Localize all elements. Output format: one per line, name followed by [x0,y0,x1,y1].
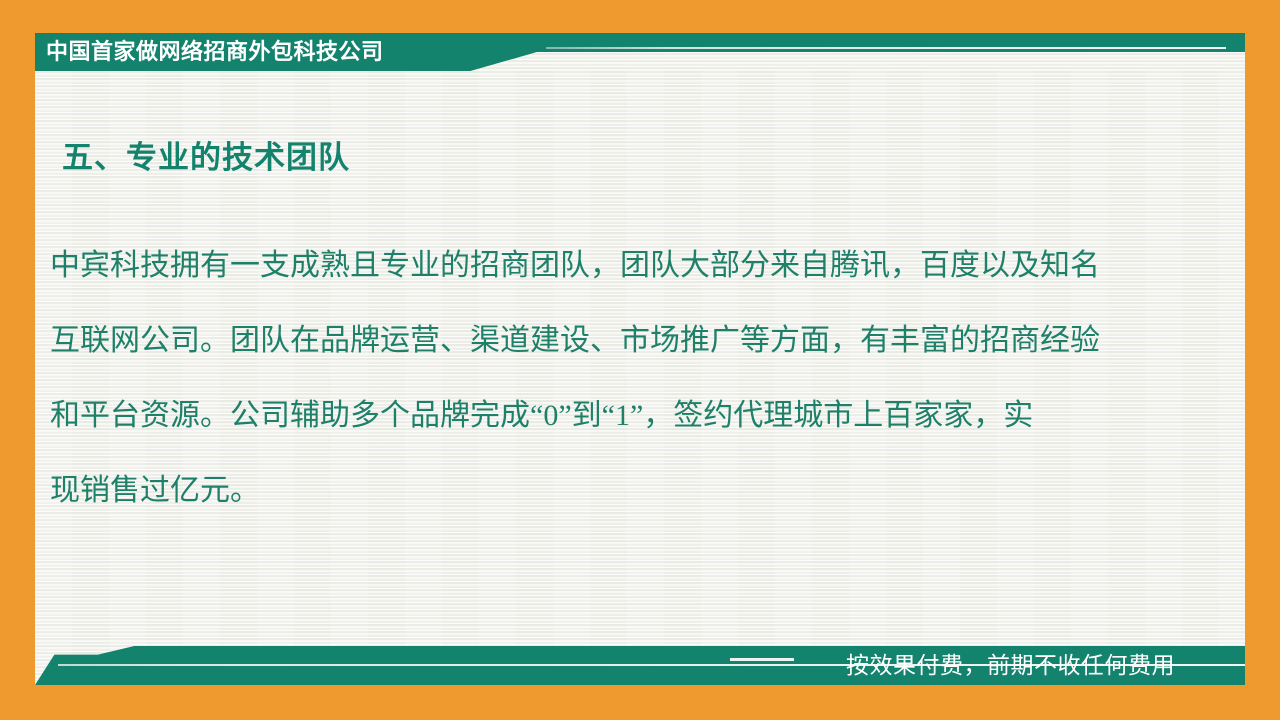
footer-dash-marker [730,658,794,661]
header-accent-rule [546,47,1226,49]
slide-canvas: 中国首家做网络招商外包科技公司 五、专业的技术团队 中宾科技拥有一支成熟且专业的… [0,0,1280,720]
body-line: 互联网公司。团队在品牌运营、渠道建设、市场推广等方面，有丰富的招商经验 [50,303,1185,378]
body-line: 现销售过亿元。 [50,453,1185,528]
body-line: 中宾科技拥有一支成熟且专业的招商团队，团队大部分来自腾讯，百度以及知名 [50,228,1185,303]
footer-tagline: 按效果付费，前期不收任何费用 [846,646,1175,685]
frame-rail-right [1245,0,1280,720]
frame-rail-bottom [0,685,1280,720]
frame-rail-top [0,0,1280,33]
body-line: 和平台资源。公司辅助多个品牌完成“0”到“1”，签约代理城市上百家家，实 [50,378,1185,453]
section-heading: 五、专业的技术团队 [62,132,350,177]
header-title: 中国首家做网络招商外包科技公司 [46,33,384,71]
body-paragraph: 中宾科技拥有一支成熟且专业的招商团队，团队大部分来自腾讯，百度以及知名 互联网公… [50,228,1185,528]
frame-rail-left [0,0,35,720]
